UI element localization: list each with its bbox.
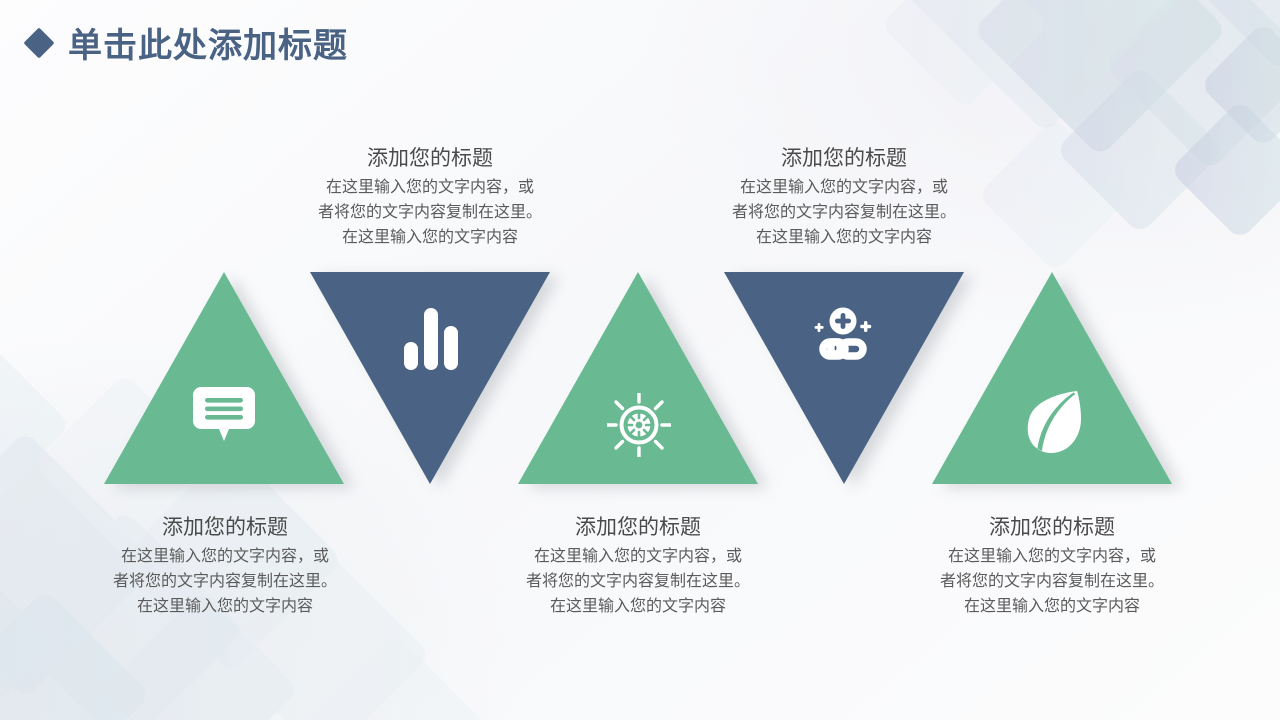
deco-tile	[897, 0, 1194, 133]
text-body: 在这里输入您的文字内容，或 者将您的文字内容复制在这里。 在这里输入您的文字内容	[508, 545, 768, 619]
icon-slot-3	[606, 392, 672, 458]
leaf-icon	[1025, 389, 1085, 455]
triangle-item-1[interactable]	[104, 272, 344, 484]
text-body-line: 在这里输入您的文字内容	[300, 226, 560, 251]
deco-tile	[1169, 99, 1280, 240]
deco-tile	[1104, 0, 1280, 171]
bar-chart-icon	[401, 308, 461, 370]
text-block-item-2: 添加您的标题 在这里输入您的文字内容，或 者将您的文字内容复制在这里。 在这里输…	[300, 145, 560, 251]
text-body-line: 者将您的文字内容复制在这里。	[714, 201, 974, 226]
text-heading: 添加您的标题	[508, 514, 768, 542]
text-body: 在这里输入您的文字内容，或 者将您的文字内容复制在这里。 在这里输入您的文字内容	[922, 545, 1182, 619]
text-body: 在这里输入您的文字内容，或 者将您的文字内容复制在这里。 在这里输入您的文字内容	[95, 545, 355, 619]
triangle-item-2[interactable]	[310, 272, 550, 484]
page-title: 单击此处添加标题	[68, 18, 348, 67]
text-body-line: 在这里输入您的文字内容，或	[300, 176, 560, 201]
text-body-line: 在这里输入您的文字内容	[95, 595, 355, 620]
text-heading: 添加您的标题	[922, 514, 1182, 542]
deco-tile	[0, 319, 71, 531]
text-block-item-4: 添加您的标题 在这里输入您的文字内容，或 者将您的文字内容复制在这里。 在这里输…	[714, 145, 974, 251]
text-block-item-3: 添加您的标题 在这里输入您的文字内容，或 者将您的文字内容复制在这里。 在这里输…	[508, 514, 768, 620]
text-body-line: 在这里输入您的文字内容，或	[95, 545, 355, 570]
slide-header: 单击此处添加标题	[28, 18, 348, 67]
deco-tile	[1188, 0, 1280, 72]
text-block-item-1: 添加您的标题 在这里输入您的文字内容，或 者将您的文字内容复制在这里。 在这里输…	[95, 514, 355, 620]
icon-slot-2	[398, 306, 464, 372]
icon-slot-4	[808, 306, 878, 370]
deco-tile	[1055, 65, 1225, 235]
text-heading: 添加您的标题	[714, 145, 974, 173]
text-body-line: 者将您的文字内容复制在这里。	[508, 570, 768, 595]
text-body-line: 在这里输入您的文字内容	[508, 595, 768, 620]
triangle-item-4[interactable]	[724, 272, 964, 484]
text-body-line: 在这里输入您的文字内容	[922, 595, 1182, 620]
text-heading: 添加您的标题	[300, 145, 560, 173]
text-body-line: 者将您的文字内容复制在这里。	[922, 570, 1182, 595]
deco-tile	[973, 0, 1228, 157]
text-body-line: 者将您的文字内容复制在这里。	[300, 201, 560, 226]
text-body-line: 者将您的文字内容复制在这里。	[95, 570, 355, 595]
icon-slot-1	[190, 382, 258, 446]
speech-bubble-icon	[193, 385, 255, 443]
icon-slot-5	[1022, 388, 1088, 456]
deco-tile	[977, 117, 1133, 273]
text-block-item-5: 添加您的标题 在这里输入您的文字内容，或 者将您的文字内容复制在这里。 在这里输…	[922, 514, 1182, 620]
deco-tile	[880, 0, 1050, 110]
text-body: 在这里输入您的文字内容，或 者将您的文字内容复制在这里。 在这里输入您的文字内容	[714, 176, 974, 250]
text-heading: 添加您的标题	[95, 514, 355, 542]
deco-tile	[303, 633, 487, 720]
diamond-icon	[23, 27, 54, 58]
text-body-line: 在这里输入您的文字内容，或	[714, 176, 974, 201]
text-body: 在这里输入您的文字内容，或 者将您的文字内容复制在这里。 在这里输入您的文字内容	[300, 176, 560, 250]
deco-tile	[1199, 21, 1280, 148]
slide-canvas: 单击此处添加标题	[0, 0, 1280, 720]
deco-tile	[0, 525, 55, 720]
link-plus-icon	[809, 307, 877, 369]
text-body-line: 在这里输入您的文字内容，或	[922, 545, 1182, 570]
text-body-line: 在这里输入您的文字内容，或	[508, 545, 768, 570]
text-body-line: 在这里输入您的文字内容	[714, 226, 974, 251]
ship-wheel-icon	[607, 393, 671, 457]
